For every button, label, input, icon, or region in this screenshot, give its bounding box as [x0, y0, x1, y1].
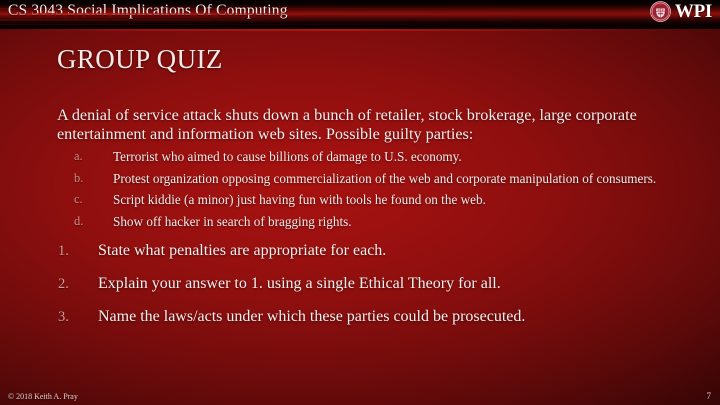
list-item: 1. State what penalties are appropriate … [57, 242, 669, 260]
list-item: 3. Name the laws/acts under which these … [57, 308, 669, 326]
list-item-text: Show off hacker in search of bragging ri… [113, 214, 352, 229]
list-marker: 1. [58, 242, 80, 260]
header-accent-line [0, 29, 720, 31]
lead-paragraph: A denial of service attack shuts down a … [57, 106, 669, 143]
list-item-text: State what penalties are appropriate for… [98, 242, 386, 259]
list-marker: a. [74, 149, 94, 165]
list-item-text: Protest organization opposing commercial… [113, 171, 656, 186]
wpi-logo: WPI [650, 1, 712, 22]
list-item-text: Name the laws/acts under which these par… [98, 308, 525, 325]
list-item: b. Protest organization opposing commerc… [57, 171, 669, 187]
wpi-wordmark: WPI [675, 1, 712, 22]
list-item: a. Terrorist who aimed to cause billions… [57, 149, 669, 165]
course-title: CS 3043 Social Implications Of Computing [8, 2, 288, 20]
list-item: 2. Explain your answer to 1. using a sin… [57, 275, 669, 293]
list-marker: b. [74, 171, 94, 187]
task-list: 1. State what penalties are appropriate … [57, 242, 669, 326]
page-number: 7 [707, 391, 712, 401]
slide-header-bar: CS 3043 Social Implications Of Computing… [0, 0, 720, 29]
list-marker: 2. [58, 275, 80, 293]
list-marker: d. [74, 214, 94, 230]
list-marker: 3. [58, 308, 80, 326]
slide-body: A denial of service attack shuts down a … [57, 106, 669, 326]
list-item: c. Script kiddie (a minor) just having f… [57, 192, 669, 208]
list-marker: c. [74, 192, 94, 208]
list-item-text: Script kiddie (a minor) just having fun … [113, 192, 486, 207]
list-item-text: Explain your answer to 1. using a single… [98, 275, 501, 292]
list-item-text: Terrorist who aimed to cause billions of… [113, 149, 462, 164]
presentation-slide: CS 3043 Social Implications Of Computing… [0, 0, 720, 405]
slide-title: GROUP QUIZ [57, 44, 223, 75]
list-item: d. Show off hacker in search of bragging… [57, 214, 669, 230]
header-streak-decoration [0, 24, 720, 25]
suspect-list: a. Terrorist who aimed to cause billions… [57, 149, 669, 229]
wpi-seal-icon [650, 1, 671, 22]
copyright-notice: © 2018 Keith A. Pray [8, 392, 78, 401]
